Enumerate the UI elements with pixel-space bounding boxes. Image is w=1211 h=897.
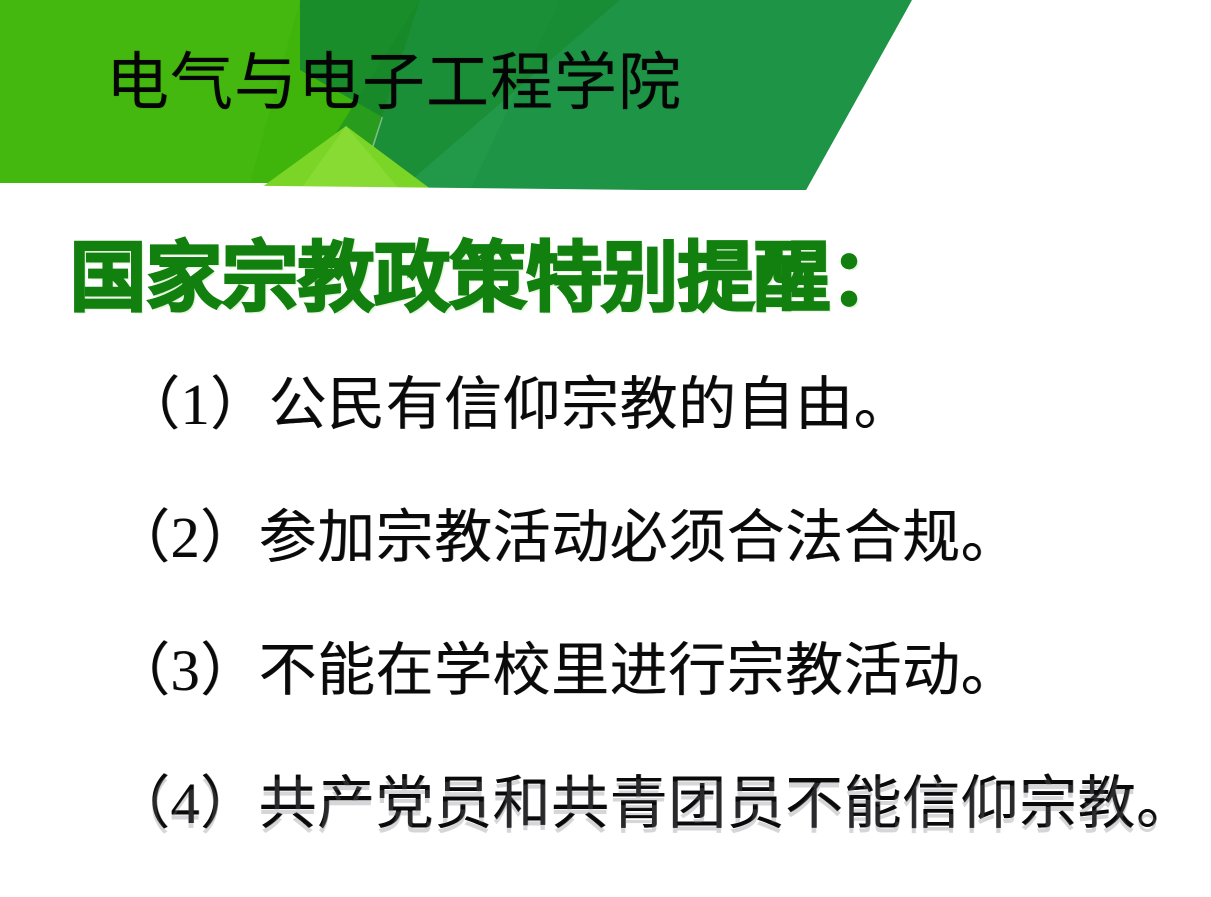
list-item-text: （4）共产党员和共青团员不能信仰宗教。 — [112, 765, 1195, 843]
list-item: （2）参加宗教活动必须合法合规。 — [0, 499, 1211, 632]
list-item: （4）共产党员和共青团员不能信仰宗教。 — [0, 765, 1211, 897]
list-item-text: （1）公民有信仰宗教的自由。 — [122, 366, 912, 444]
list-item: （1）公民有信仰宗教的自由。 — [0, 366, 1211, 499]
policy-reminder-list: （1）公民有信仰宗教的自由。 （2）参加宗教活动必须合法合规。 （3）不能在学校… — [0, 366, 1211, 897]
list-item: （3）不能在学校里进行宗教活动。 — [0, 632, 1211, 765]
page-title: 国家宗教政策特别提醒： — [70, 232, 906, 324]
slide-canvas: 电气与电子工程学院 国家宗教政策特别提醒： （1）公民有信仰宗教的自由。 （2）… — [0, 0, 1211, 897]
header-department-title: 电气与电子工程学院 — [106, 40, 806, 126]
list-item-text: （3）不能在学校里进行宗教活动。 — [112, 632, 1019, 710]
list-item-text: （2）参加宗教活动必须合法合规。 — [112, 499, 1019, 577]
header-banner: 电气与电子工程学院 — [0, 0, 1211, 200]
